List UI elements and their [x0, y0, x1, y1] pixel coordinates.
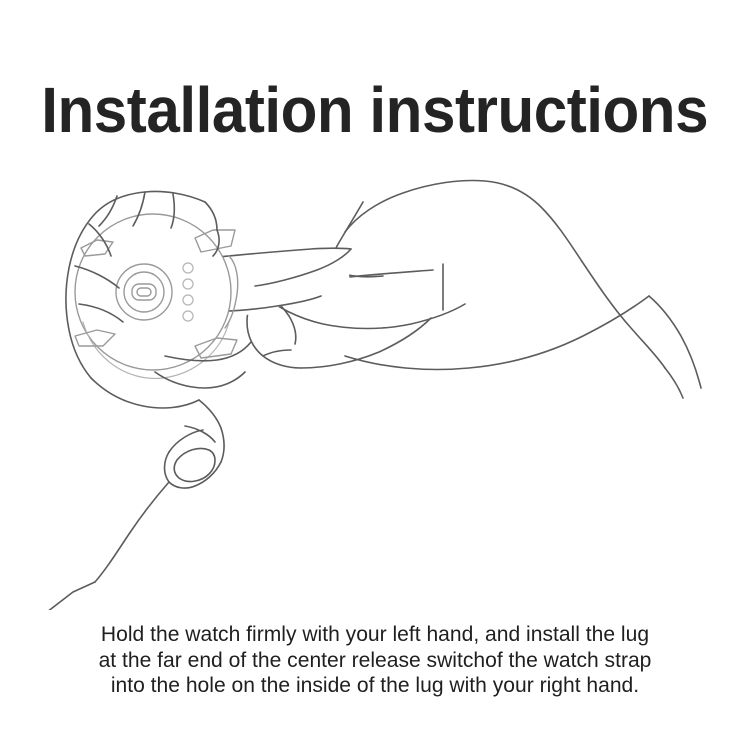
watch-body	[75, 214, 238, 378]
caption-block: Hold the watch firmly with your left han…	[0, 622, 750, 699]
caption-line-2: at the far end of the center release swi…	[8, 648, 743, 674]
installation-instructions-page: Installation instructions	[0, 0, 750, 750]
caption-line-3: into the hole on the inside of the lug w…	[8, 673, 743, 699]
caption-line-1: Hold the watch firmly with your left han…	[8, 622, 743, 648]
page-title: Installation instructions	[42, 77, 709, 143]
installation-illustration	[45, 160, 705, 610]
